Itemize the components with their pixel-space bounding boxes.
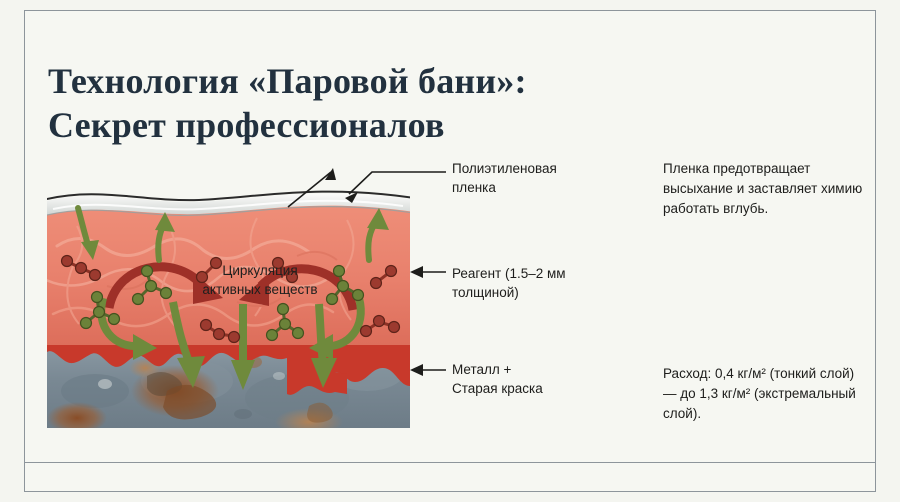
callout-film-line-2: пленка <box>452 178 627 197</box>
cross-section-illustration <box>47 186 410 428</box>
title-line-2: Секрет профессионалов <box>48 104 688 148</box>
page-title: Технология «Паровой бани»: Секрет профес… <box>48 60 688 148</box>
callout-label-film: Полиэтиленовая пленка <box>452 159 627 197</box>
callout-metal-line-2: Старая краска <box>452 379 637 398</box>
center-caption-line-2: активных веществ <box>160 281 360 300</box>
illustration-center-caption: Циркуляция активных веществ <box>160 262 360 299</box>
callout-film-line-1: Полиэтиленовая <box>452 159 627 178</box>
center-caption-line-1: Циркуляция <box>160 262 360 281</box>
callout-metal-line-1: Металл + <box>452 360 637 379</box>
callout-reagent-line-1: Реагент (1.5–2 мм <box>452 264 637 283</box>
callout-reagent-line-2: толщиной) <box>452 283 637 302</box>
callout-label-reagent: Реагент (1.5–2 мм толщиной) <box>452 264 637 302</box>
note-film-function: Пленка предотвращает высыхание и заставл… <box>663 159 868 219</box>
slide: Технология «Паровой бани»: Секрет профес… <box>0 0 900 502</box>
callout-label-metal: Металл + Старая краска <box>452 360 637 398</box>
note-consumption: Расход: 0,4 кг/м² (тонкий слой) — до 1,3… <box>663 364 868 424</box>
slide-footer-divider <box>24 462 876 463</box>
title-line-1: Технология «Паровой бани»: <box>48 61 527 101</box>
